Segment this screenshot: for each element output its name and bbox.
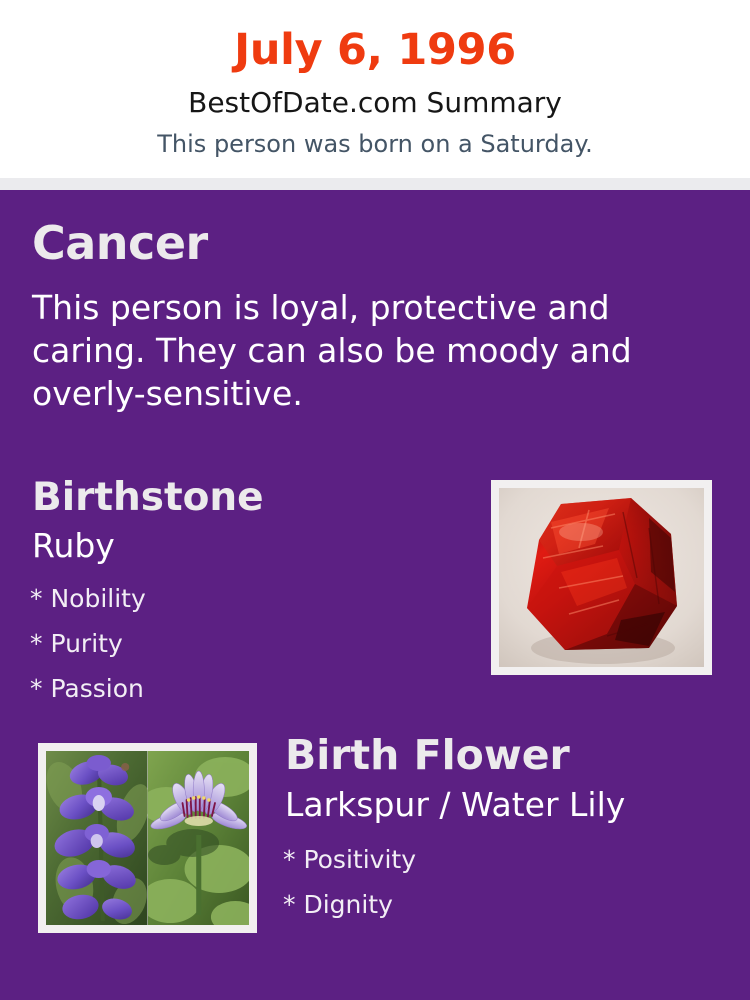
birth-flower-names: Larkspur / Water Lily — [285, 788, 625, 821]
water-lily-photo — [148, 751, 250, 925]
larkspur-photo — [46, 751, 148, 925]
list-item: * Passion — [30, 667, 430, 712]
summary-card: July 6, 1996 BestOfDate.com Summary This… — [0, 0, 750, 1000]
list-item: * Dignity — [283, 883, 683, 928]
header: July 6, 1996 BestOfDate.com Summary This… — [0, 0, 750, 178]
birthstone-heading: Birthstone — [32, 478, 264, 517]
page-title: July 6, 1996 — [0, 28, 750, 73]
list-item: * Positivity — [283, 838, 683, 883]
list-item: * Nobility — [30, 577, 430, 622]
zodiac-sign-name: Cancer — [32, 220, 208, 266]
birthstone-trait-list: * Nobility * Purity * Passion — [30, 577, 430, 711]
zodiac-description: This person is loyal, protective and car… — [32, 287, 652, 416]
list-item: * Purity — [30, 622, 430, 667]
divider-strip — [0, 178, 750, 190]
ruby-gemstone-image — [499, 488, 704, 667]
born-day-text: This person was born on a Saturday. — [0, 131, 750, 157]
birth-flower-heading: Birth Flower — [285, 735, 570, 776]
birthstone-image-frame — [491, 480, 712, 675]
birthstone-name: Ruby — [32, 529, 115, 562]
content-panel: Cancer This person is loyal, protective … — [0, 190, 750, 1000]
birth-flower-image-frame — [38, 743, 257, 933]
birth-flower-trait-list: * Positivity * Dignity — [283, 838, 683, 928]
site-summary-label: BestOfDate.com Summary — [0, 88, 750, 119]
